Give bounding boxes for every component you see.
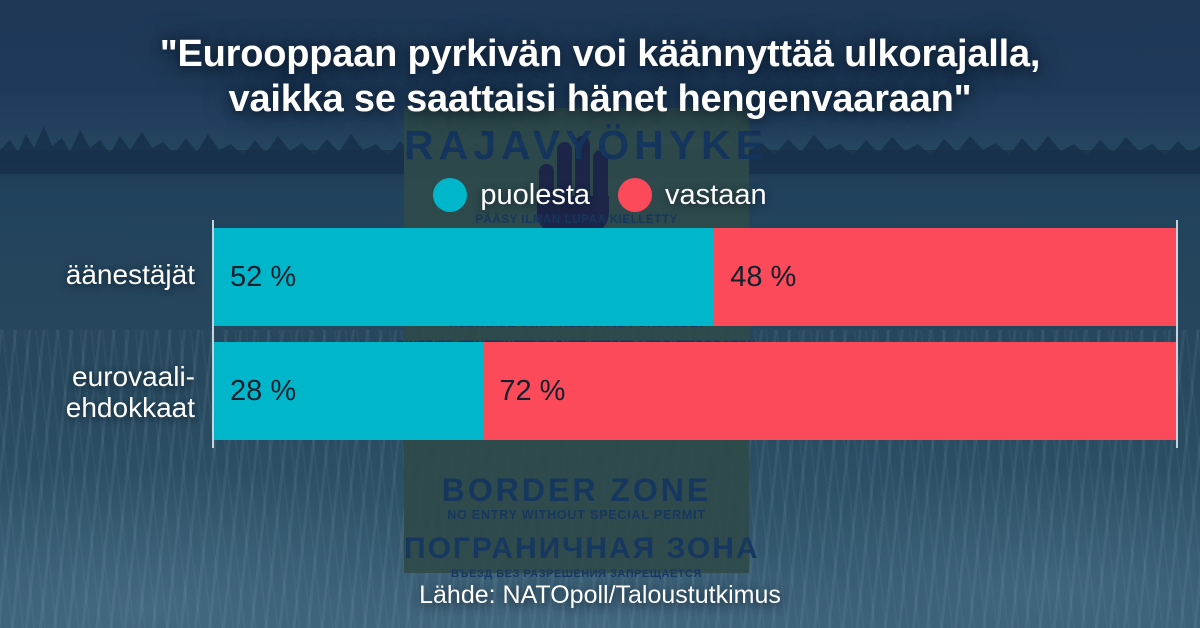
table-row: 28 % 72 % bbox=[214, 342, 1176, 440]
headline-line-2: vaikka se saattaisi hänet hengenvaaraan" bbox=[40, 77, 1160, 122]
legend-dot-icon-vastaan bbox=[618, 178, 652, 212]
legend-item-puolesta[interactable]: puolesta bbox=[433, 178, 590, 212]
table-row: 52 % 48 % bbox=[214, 228, 1176, 326]
category-label-line-1: eurovaali- bbox=[66, 362, 195, 393]
category-label-line-1: äänestäjät bbox=[66, 260, 195, 291]
legend-item-vastaan[interactable]: vastaan bbox=[618, 178, 767, 212]
category-label-line-2: ehdokkaat bbox=[66, 393, 195, 424]
chart-legend: puolesta vastaan bbox=[0, 178, 1200, 212]
bar-segment-vastaan[interactable]: 48 % bbox=[714, 228, 1176, 326]
bar-segment-puolesta[interactable]: 52 % bbox=[214, 228, 714, 326]
headline: "Eurooppaan pyrkivän voi käännyttää ulko… bbox=[0, 32, 1200, 122]
category-label-eurovaaliehdokkaat: eurovaali- ehdokkaat bbox=[66, 362, 195, 424]
source-caption: Lähde: NATOpoll/Taloustutkimus bbox=[0, 581, 1200, 610]
bar-value-puolesta: 52 % bbox=[214, 261, 296, 294]
sign-text-en-small: NO ENTRY WITHOUT SPECIAL PERMIT bbox=[404, 508, 749, 522]
sign-text-fi-small: PÄÄSY ILMAN LUPAA KIELLETTY bbox=[404, 214, 749, 226]
bar-segment-puolesta[interactable]: 28 % bbox=[214, 342, 483, 440]
infographic-canvas: RAJAVYÖHYKE PÄÄSY ILMAN LUPAA KIELLETTY … bbox=[0, 0, 1200, 628]
sign-text-ru-big: ПОГРАНИЧНАЯ ЗОНА bbox=[404, 532, 749, 566]
bar-value-vastaan: 72 % bbox=[483, 375, 565, 408]
sign-text-ru-small: ВЪЕЗД БЕЗ РАЗРЕШЕНИЯ ЗАПРЕЩАЕТСЯ bbox=[390, 568, 763, 580]
headline-line-1: "Eurooppaan pyrkivän voi käännyttää ulko… bbox=[40, 32, 1160, 77]
bar-segment-vastaan[interactable]: 72 % bbox=[483, 342, 1176, 440]
sign-text-en-big: BORDER ZONE bbox=[404, 472, 749, 509]
stacked-bar-chart: 52 % 48 % 28 % 72 % bbox=[214, 228, 1176, 440]
category-label-aanestajat: äänestäjät bbox=[66, 260, 195, 291]
legend-label-vastaan: vastaan bbox=[665, 179, 767, 212]
sign-text-fi-big: RAJAVYÖHYKE bbox=[404, 122, 749, 169]
bar-value-vastaan: 48 % bbox=[714, 261, 796, 294]
legend-dot-icon-puolesta bbox=[433, 178, 467, 212]
bar-value-puolesta: 28 % bbox=[214, 375, 296, 408]
legend-label-puolesta: puolesta bbox=[480, 179, 590, 212]
axis-line-right bbox=[1176, 220, 1178, 448]
